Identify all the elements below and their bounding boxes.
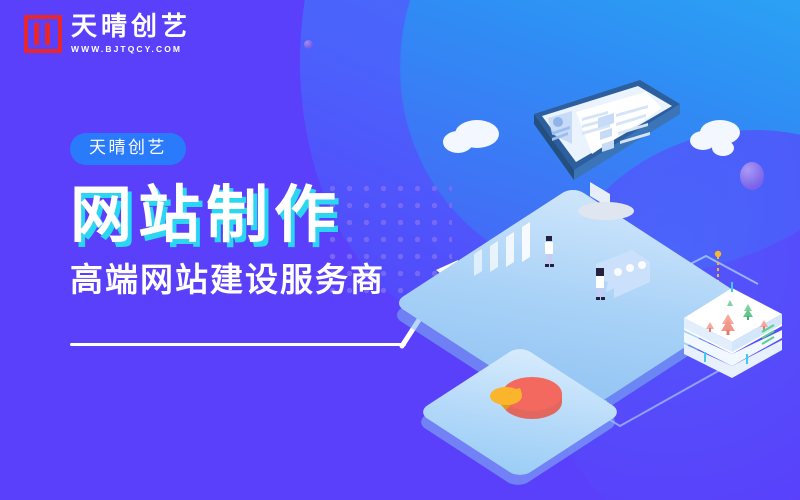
isometric-desktop-monitor [528, 78, 686, 228]
brand-website-url: WWW.BJTQCY.COM [71, 45, 191, 54]
isometric-server-stack [678, 280, 788, 380]
tianqing-logo-mark-icon [24, 15, 62, 53]
headline-subtitle: 高端网站建设服务商 [70, 263, 385, 296]
person-figure [542, 234, 556, 268]
promo-banner: 天晴创艺 WWW.BJTQCY.COM 天晴创艺 网站制作 高端网站建设服务商 [0, 0, 800, 500]
brand-logo-text: 天晴创艺 WWW.BJTQCY.COM [71, 14, 191, 54]
headline-block: 天晴创艺 网站制作 高端网站建设服务商 [70, 133, 385, 296]
headline-title: 网站制作 [70, 184, 385, 246]
divider-rule [70, 343, 406, 346]
isometric-pie-chart [482, 360, 572, 440]
brand-logo[interactable]: 天晴创艺 WWW.BJTQCY.COM [24, 14, 191, 54]
brand-name-cn: 天晴创艺 [71, 14, 191, 40]
decorative-sphere [304, 40, 313, 49]
isometric-illustration [420, 70, 800, 490]
person-figure [593, 266, 607, 300]
brand-badge: 天晴创艺 [70, 133, 186, 165]
